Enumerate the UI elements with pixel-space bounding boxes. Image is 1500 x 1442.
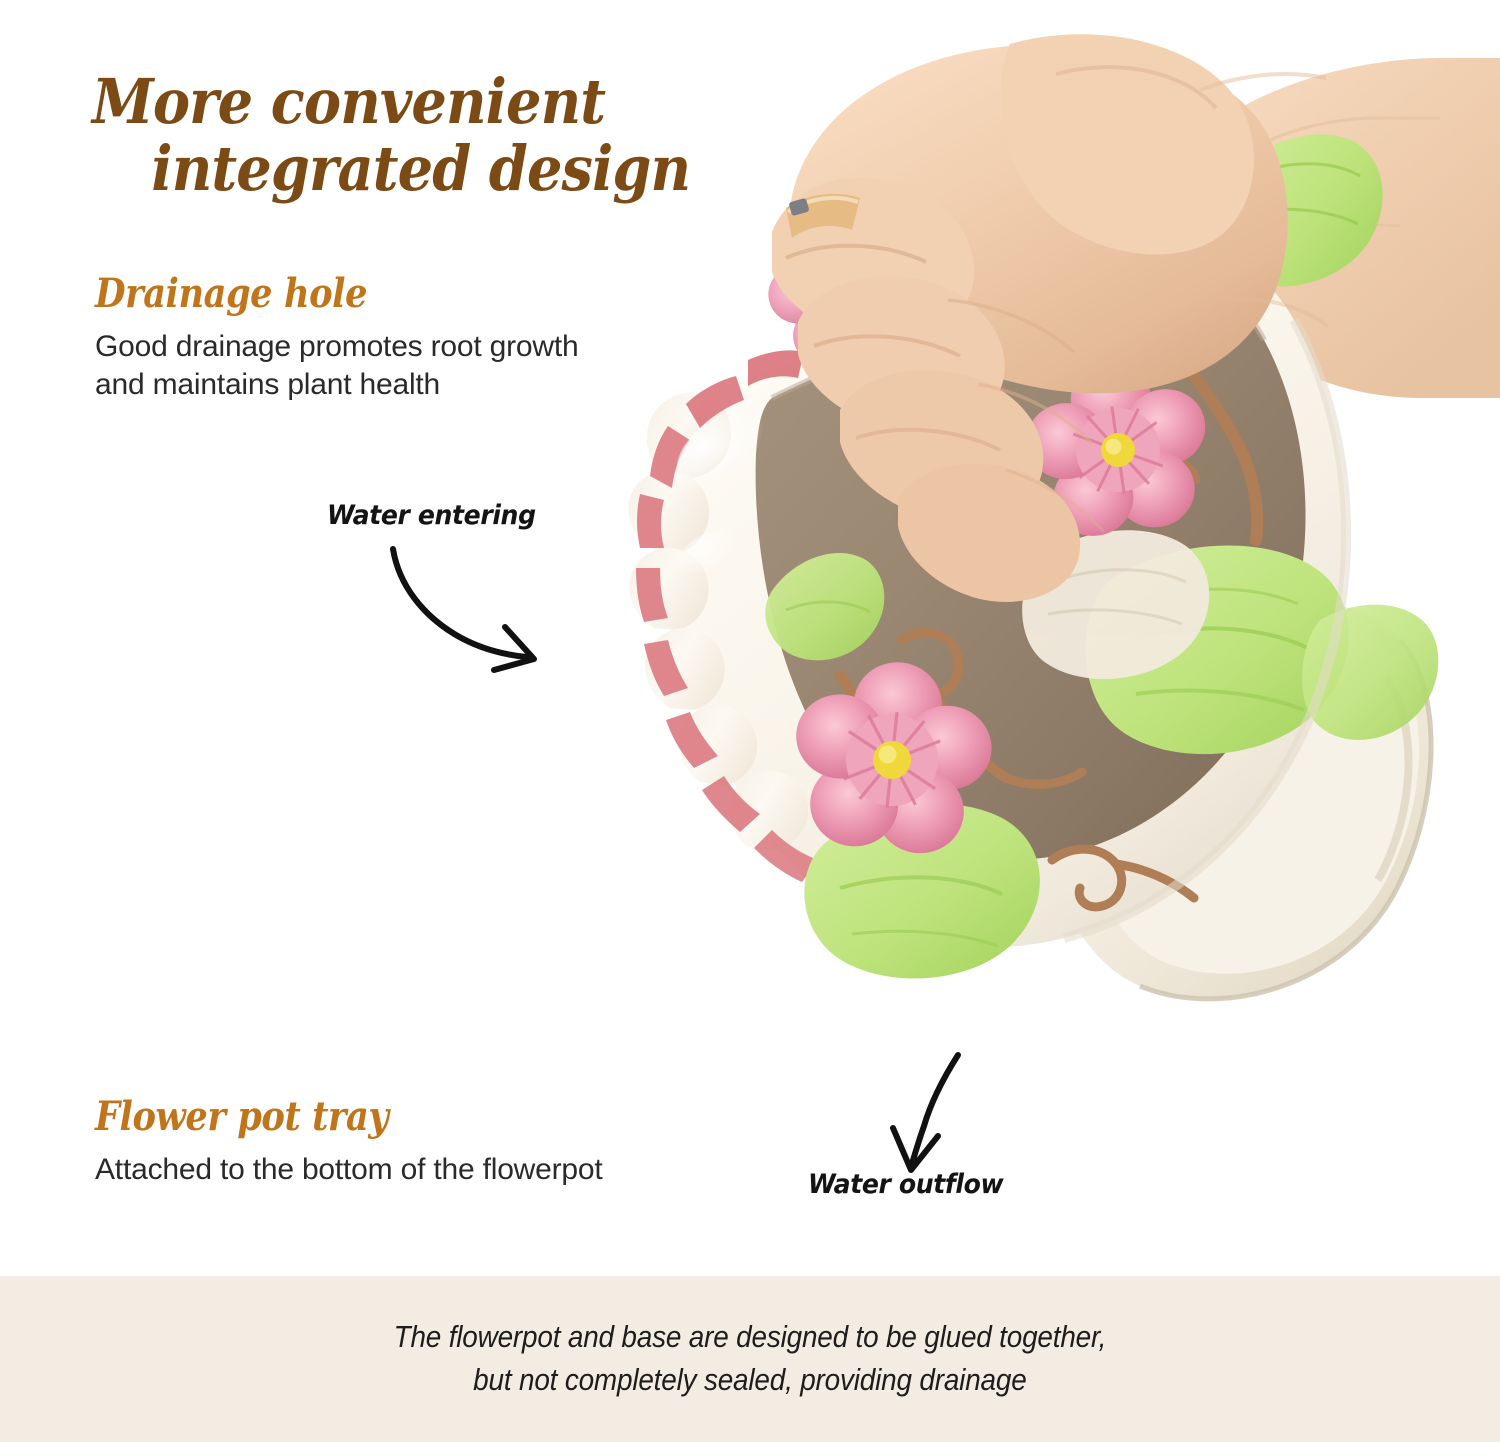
infographic-page: More convenient integrated design Draina… [0, 0, 1500, 1442]
feature-drainage-title: Drainage hole [95, 272, 658, 316]
water-entering-arrow [393, 549, 534, 670]
page-title: More convenient integrated design [92, 2, 776, 270]
feature-flower-pot-tray: Flower pot tray Attached to the bottom o… [95, 1095, 795, 1189]
callout-label-water-outflow: Water outflow [808, 1169, 1003, 1200]
feature-drainage-hole: Drainage hole Good drainage promotes roo… [95, 272, 735, 405]
headline-line-2: integrated design [92, 136, 776, 203]
footer-banner: The flowerpot and base are designed to b… [0, 1276, 1500, 1442]
footer-note: The flowerpot and base are designed to b… [394, 1316, 1107, 1402]
feature-tray-title: Flower pot tray [95, 1095, 711, 1139]
headline-line-1: More convenient [92, 65, 605, 138]
callout-label-water-entering: Water entering [327, 500, 536, 531]
feature-drainage-body: Good drainage promotes root growth and m… [95, 328, 735, 405]
feature-tray-body: Attached to the bottom of the flowerpot [95, 1151, 795, 1189]
